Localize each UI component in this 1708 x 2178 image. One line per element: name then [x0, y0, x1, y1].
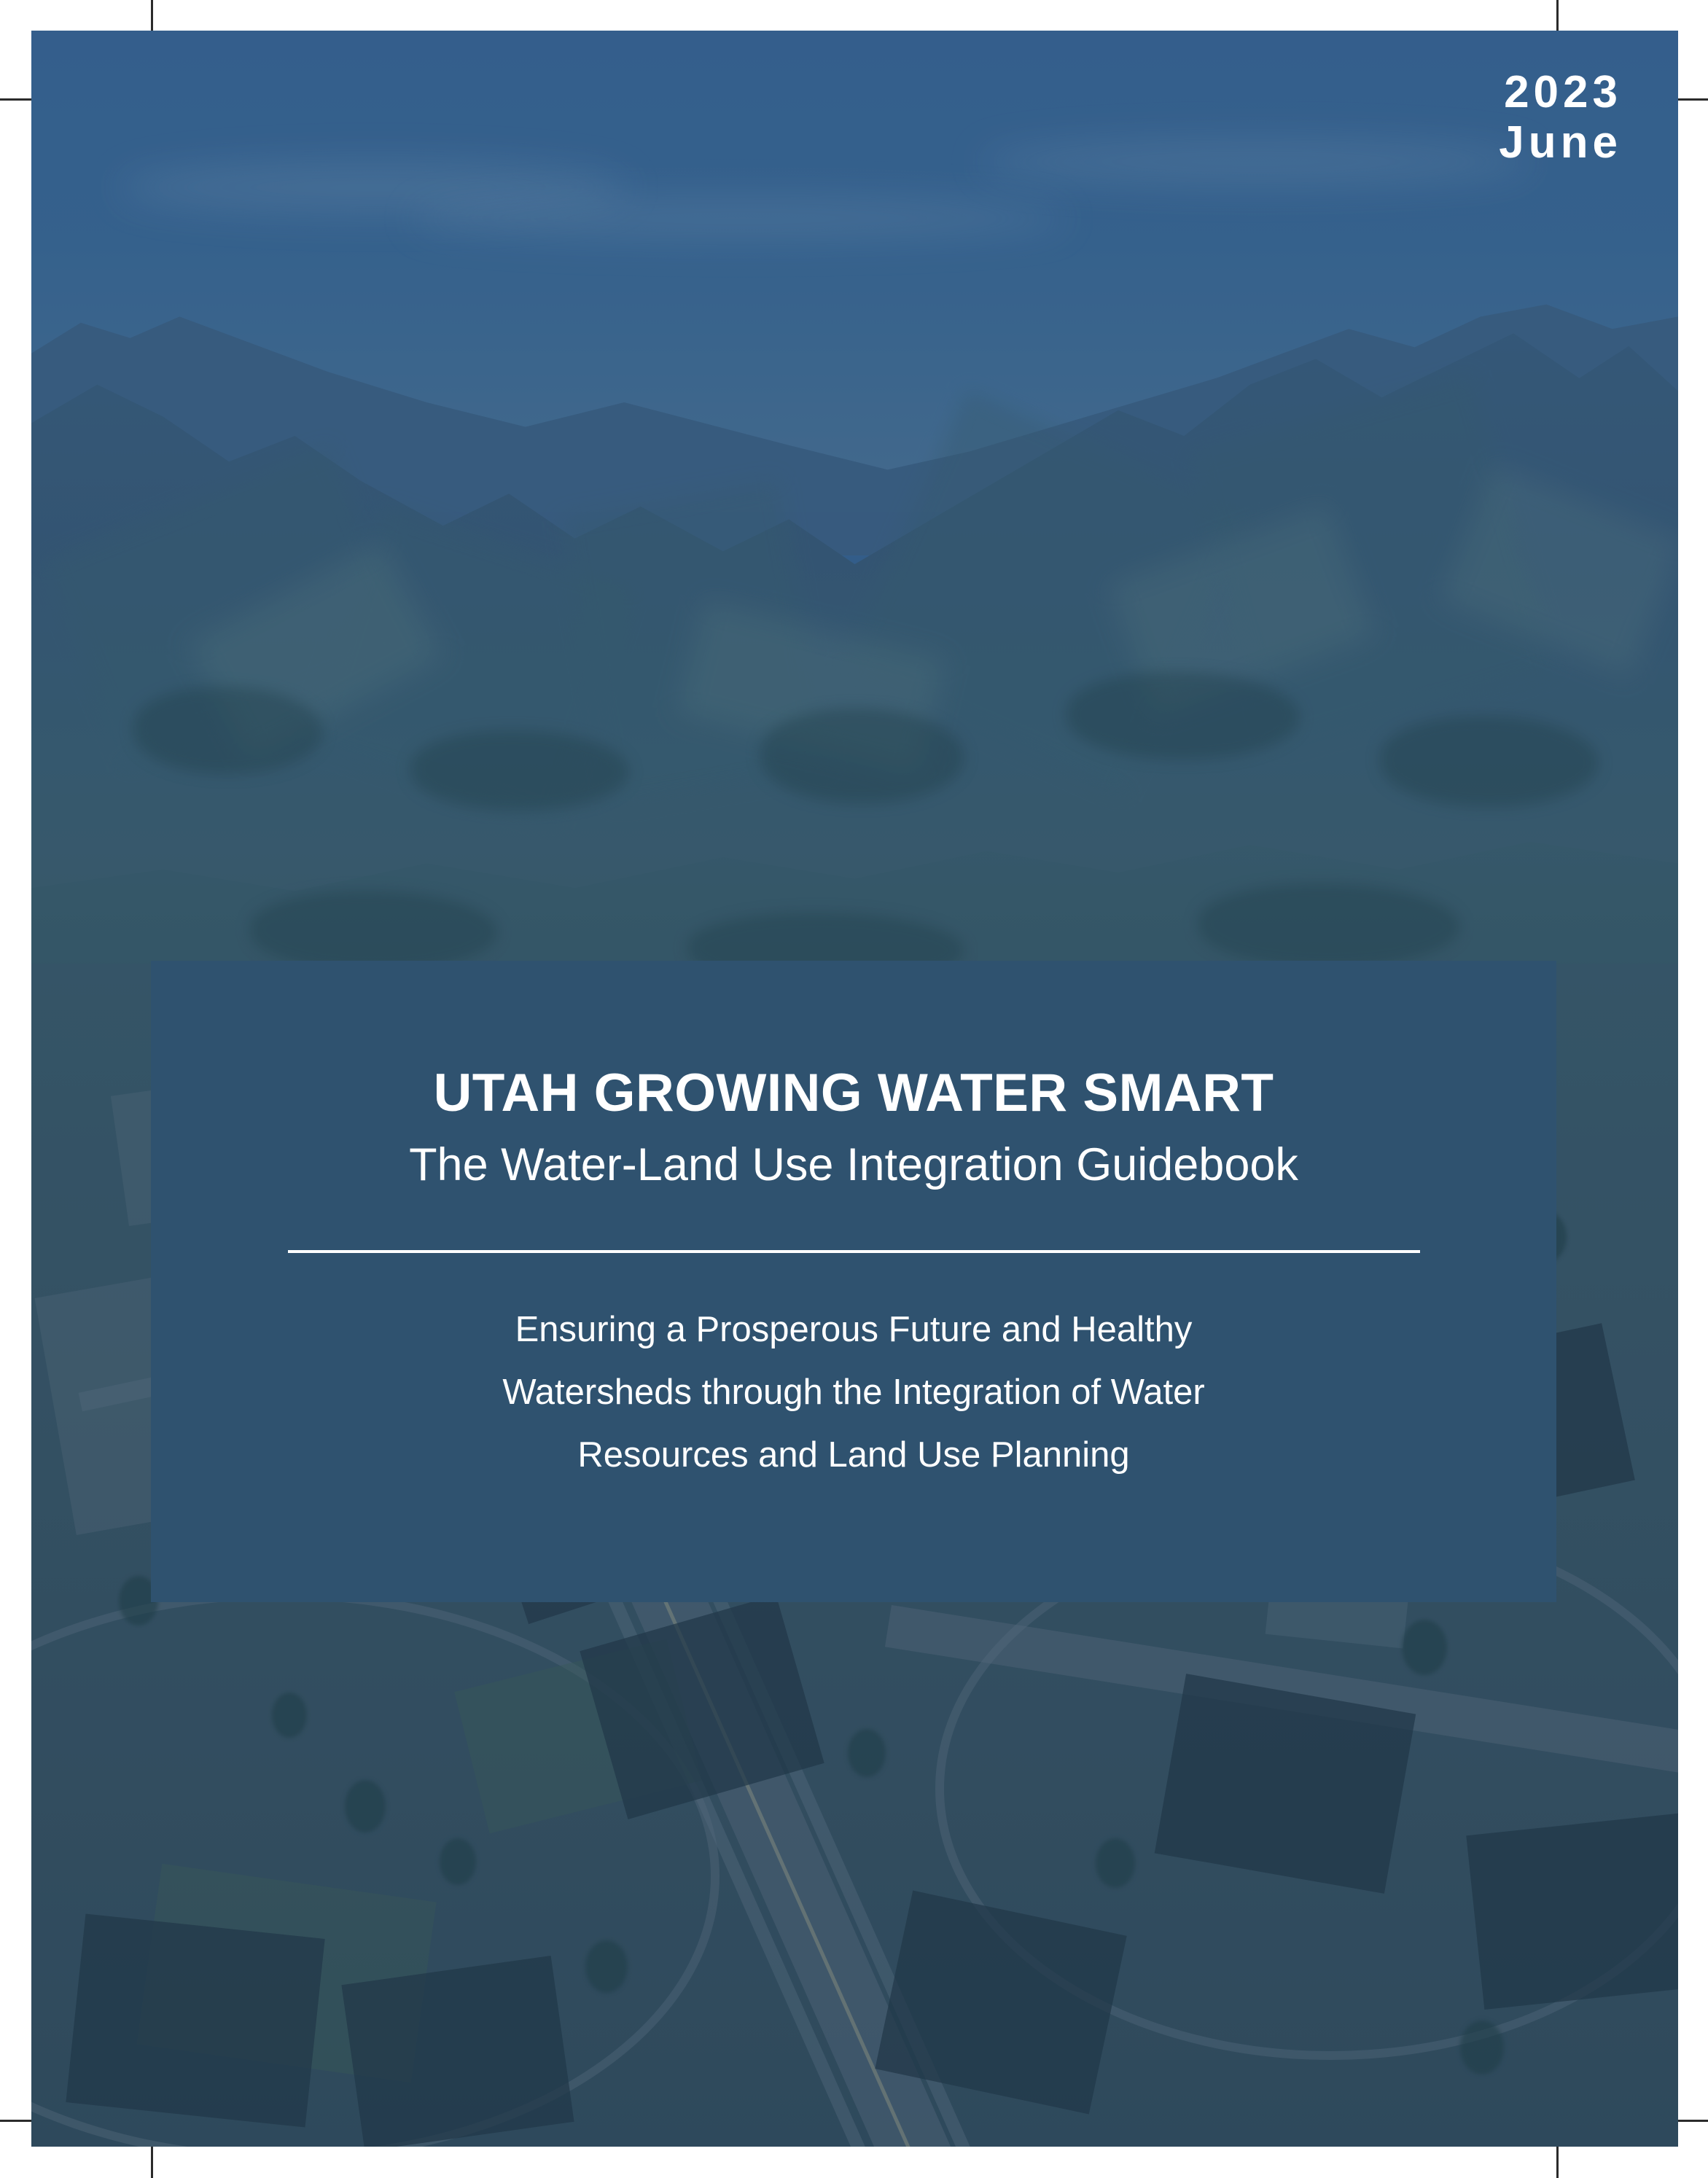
- tree: [345, 1780, 386, 1832]
- forest-patch: [760, 709, 964, 803]
- tree: [440, 1838, 476, 1885]
- forest-patch: [1380, 716, 1599, 807]
- tagline-line-2: Watersheds through the Integration of Wa…: [151, 1361, 1556, 1424]
- tree: [1096, 1838, 1135, 1888]
- document-subtitle: The Water-Land Use Integration Guidebook: [151, 1123, 1556, 1191]
- title-overlay-panel: UTAH GROWING WATER SMART The Water-Land …: [151, 961, 1556, 1602]
- document-title: UTAH GROWING WATER SMART: [151, 961, 1556, 1123]
- forest-patch: [133, 687, 323, 774]
- tree: [1460, 2021, 1504, 2074]
- tree: [585, 1940, 628, 1993]
- building-roof: [1466, 1813, 1678, 2010]
- tree: [1402, 1620, 1447, 1675]
- forest-patch: [1198, 883, 1460, 967]
- building-roof: [341, 1956, 574, 2147]
- tagline-line-1: Ensuring a Prosperous Future and Healthy: [151, 1298, 1556, 1361]
- building-roof: [66, 1913, 324, 2127]
- forest-patch: [410, 730, 629, 811]
- tree: [848, 1729, 886, 1777]
- cloud-wisp: [410, 198, 1066, 238]
- forest-patch: [250, 891, 498, 971]
- publication-date: 2023 June: [1499, 67, 1622, 168]
- publication-year: 2023: [1499, 67, 1622, 117]
- cover-page: 2023 June UTAH GROWING WATER SMART The W…: [0, 0, 1708, 2178]
- tagline-line-3: Resources and Land Use Planning: [151, 1424, 1556, 1486]
- cloud-wisp: [979, 140, 1533, 184]
- forest-patch: [1066, 672, 1300, 760]
- tree: [272, 1693, 307, 1738]
- publication-month: June: [1499, 117, 1622, 168]
- document-tagline: Ensuring a Prosperous Future and Healthy…: [151, 1253, 1556, 1487]
